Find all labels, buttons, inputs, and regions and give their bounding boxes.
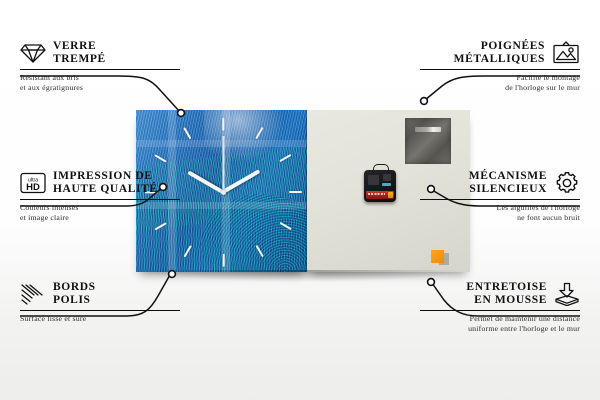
callout-title-line2: HAUTE QUALITÉ bbox=[53, 183, 158, 196]
clock-tick bbox=[222, 117, 224, 130]
callout-header: MÉCANISME SILENCIEUX bbox=[420, 170, 580, 196]
callout-title: BORDS POLIS bbox=[53, 281, 96, 307]
callout-subtitle: Facilite le montage de l'horloge sur le … bbox=[420, 73, 580, 94]
callout-title-line1: IMPRESSION DE bbox=[53, 170, 158, 183]
callout-verre-trempe: VERRE TREMPÉ Résistant aux bris et aux é… bbox=[20, 40, 180, 94]
hanger-slot bbox=[415, 127, 441, 132]
polished-edge-icon bbox=[20, 283, 46, 305]
callout-title-line1: BORDS bbox=[53, 281, 96, 294]
callout-rule bbox=[420, 69, 580, 70]
callout-sub-line2: uniforme entre l'horloge et le mur bbox=[420, 324, 580, 334]
picture-frame-hook-icon bbox=[552, 41, 580, 65]
callout-title-line2: MÉTALLIQUES bbox=[454, 53, 545, 66]
callout-bords-polis: BORDS POLIS Surface lisse et sûre bbox=[20, 281, 180, 324]
callout-title: ENTRETOISE EN MOUSSE bbox=[466, 281, 547, 307]
clock-center-hub bbox=[221, 190, 226, 195]
callout-sub-line1: Permet de maintenir une distance bbox=[420, 314, 580, 324]
leader-dot-poignees bbox=[421, 98, 428, 105]
mechanism-label bbox=[382, 183, 391, 186]
pattern-grid-line bbox=[136, 140, 307, 147]
clock-second-hand bbox=[223, 136, 225, 192]
callout-title-line2: SILENCIEUX bbox=[469, 183, 547, 196]
clock-battery bbox=[366, 191, 394, 199]
callout-header: BORDS POLIS bbox=[20, 281, 180, 307]
callout-rule bbox=[20, 199, 180, 200]
callout-title-line2: EN MOUSSE bbox=[466, 294, 547, 307]
mechanism-hook bbox=[373, 164, 389, 174]
callout-title: POIGNÉES MÉTALLIQUES bbox=[454, 40, 545, 66]
callout-entretoise-en-mousse: ENTRETOISE EN MOUSSE Permet de maintenir… bbox=[420, 281, 580, 335]
clock-tick bbox=[222, 253, 224, 266]
battery-terminal bbox=[388, 192, 393, 198]
callout-rule bbox=[20, 310, 180, 311]
callout-header: POIGNÉES MÉTALLIQUES bbox=[420, 40, 580, 66]
callout-title: VERRE TREMPÉ bbox=[53, 40, 106, 66]
foam-spacer-arrow-icon bbox=[554, 282, 580, 306]
callout-title-line1: ENTRETOISE bbox=[466, 281, 547, 294]
ultra-hd-icon: ultra HD bbox=[20, 172, 46, 194]
callout-sub-line2: et aux égratignures bbox=[20, 83, 180, 93]
callout-rule bbox=[420, 199, 580, 200]
callout-sub-line2: ne font aucun bruit bbox=[420, 213, 580, 223]
foam-spacer bbox=[431, 250, 444, 263]
callout-subtitle: Surface lisse et sûre bbox=[20, 314, 180, 324]
callout-title: MÉCANISME SILENCIEUX bbox=[469, 170, 547, 196]
callout-sub-line1: Couleurs intenses bbox=[20, 203, 180, 213]
callout-title-line1: MÉCANISME bbox=[469, 170, 547, 183]
metal-hanger-plate bbox=[405, 118, 451, 164]
callout-title: IMPRESSION DE HAUTE QUALITÉ bbox=[53, 170, 158, 196]
callout-subtitle: Les aiguilles de l'horloge ne font aucun… bbox=[420, 203, 580, 224]
mechanism-detail bbox=[368, 175, 379, 185]
callout-header: ENTRETOISE EN MOUSSE bbox=[420, 281, 580, 307]
callout-impression-haute-qualite: ultra HD IMPRESSION DE HAUTE QUALITÉ Cou… bbox=[20, 170, 180, 224]
callout-subtitle: Permet de maintenir une distance uniform… bbox=[420, 314, 580, 335]
clock-mechanism bbox=[364, 170, 396, 202]
callout-header: VERRE TREMPÉ bbox=[20, 40, 180, 66]
infographic-stage: VERRE TREMPÉ Résistant aux bris et aux é… bbox=[0, 0, 600, 400]
callout-sub-line1: Surface lisse et sûre bbox=[20, 314, 180, 324]
callout-sub-line1: Facilite le montage bbox=[420, 73, 580, 83]
callout-poignees-metalliques: POIGNÉES MÉTALLIQUES Facilite le montage… bbox=[420, 40, 580, 94]
callout-title-line1: POIGNÉES bbox=[454, 40, 545, 53]
callout-sub-line1: Les aiguilles de l'horloge bbox=[420, 203, 580, 213]
callout-header: ultra HD IMPRESSION DE HAUTE QUALITÉ bbox=[20, 170, 180, 196]
callout-rule bbox=[20, 69, 180, 70]
callout-sub-line2: et image claire bbox=[20, 213, 180, 223]
callout-rule bbox=[420, 310, 580, 311]
product-shadow bbox=[140, 270, 466, 282]
callout-sub-line1: Résistant aux bris bbox=[20, 73, 180, 83]
ultra-hd-icon-main-label: HD bbox=[26, 182, 40, 193]
mechanism-detail bbox=[383, 174, 391, 181]
diamond-icon bbox=[20, 42, 46, 64]
callout-sub-line2: de l'horloge sur le mur bbox=[420, 83, 580, 93]
callout-title-line1: VERRE bbox=[53, 40, 106, 53]
callout-mecanisme-silencieux: MÉCANISME SILENCIEUX Les aiguilles de l'… bbox=[420, 170, 580, 224]
callout-title-line2: TREMPÉ bbox=[53, 53, 106, 66]
callout-subtitle: Couleurs intenses et image claire bbox=[20, 203, 180, 224]
battery-label bbox=[368, 193, 385, 195]
callout-title-line2: POLIS bbox=[53, 294, 96, 307]
callout-subtitle: Résistant aux bris et aux égratignures bbox=[20, 73, 180, 94]
gear-icon bbox=[554, 171, 580, 195]
